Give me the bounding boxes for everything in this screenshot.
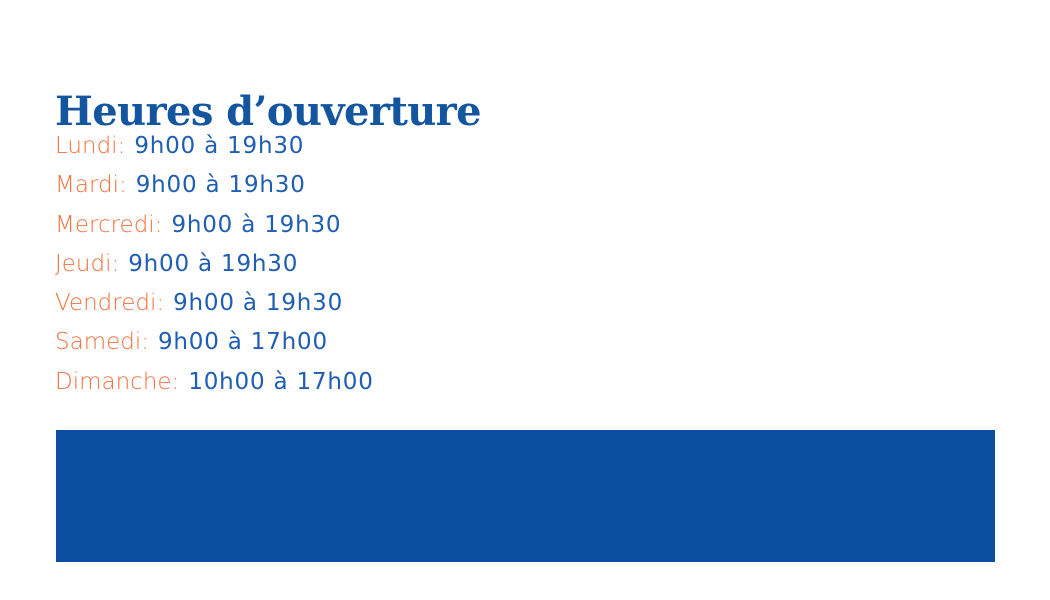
- list-item: Lundi: 9h00 à 19h30: [55, 133, 755, 172]
- opening-hours-list: Lundi: 9h00 à 19h30 Mardi: 9h00 à 19h30 …: [55, 133, 755, 408]
- day-hours-samedi: 9h00 à 17h00: [158, 329, 328, 355]
- list-item: Samedi: 9h00 à 17h00: [55, 329, 755, 368]
- list-item: Jeudi: 9h00 à 19h30: [55, 251, 755, 290]
- day-hours-lundi: 9h00 à 19h30: [134, 133, 304, 159]
- page-title: Heures d’ouverture: [55, 89, 481, 135]
- day-label-mercredi: Mercredi:: [55, 212, 162, 238]
- opening-hours-page: Heures d’ouverture Lundi: 9h00 à 19h30 M…: [0, 0, 1050, 600]
- list-item: Mercredi: 9h00 à 19h30: [55, 212, 755, 251]
- day-hours-mardi: 9h00 à 19h30: [136, 172, 306, 198]
- list-item: Vendredi: 9h00 à 19h30: [55, 290, 755, 329]
- list-item: Dimanche: 10h00 à 17h00: [55, 369, 755, 408]
- day-label-samedi: Samedi:: [55, 329, 149, 355]
- day-hours-vendredi: 9h00 à 19h30: [173, 290, 343, 316]
- day-hours-dimanche: 10h00 à 17h00: [188, 369, 373, 395]
- day-label-vendredi: Vendredi:: [55, 290, 164, 316]
- day-label-dimanche: Dimanche:: [55, 369, 179, 395]
- day-label-jeudi: Jeudi:: [55, 251, 119, 277]
- blue-banner-block: [56, 430, 995, 562]
- list-item: Mardi: 9h00 à 19h30: [55, 172, 755, 211]
- day-hours-jeudi: 9h00 à 19h30: [128, 251, 298, 277]
- day-label-lundi: Lundi:: [55, 133, 125, 159]
- day-hours-mercredi: 9h00 à 19h30: [171, 212, 341, 238]
- day-label-mardi: Mardi:: [55, 172, 127, 198]
